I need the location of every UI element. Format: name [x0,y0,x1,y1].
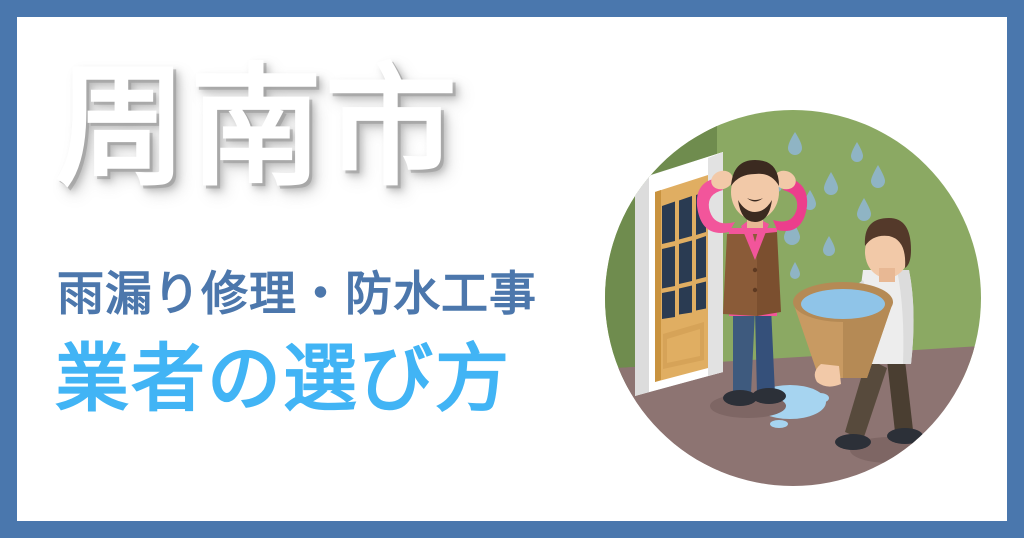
door-leaf-edge [655,190,661,382]
neck [879,268,895,282]
illustration-svg [605,110,981,486]
shoe-back [835,434,871,450]
page-title-city: 周南市 [55,62,460,194]
bucket-water [801,289,885,319]
shoe-left [723,390,757,406]
door-pane [662,291,675,320]
door-pane [662,202,675,245]
door-pane [662,246,675,289]
shoe-front [887,428,923,444]
puddle-splash [811,393,829,403]
vest-button [753,288,757,292]
door-pane [696,282,706,311]
scene-clip-group [605,110,981,486]
vest-button [753,268,757,272]
door-pane [679,241,692,285]
banner-frame: 周南市 雨漏り修理・防水工事 業者の選び方 [0,0,1024,538]
door-pane [679,196,692,240]
banner-inner-canvas: 周南市 雨漏り修理・防水工事 業者の選び方 [17,17,1007,521]
hand-grip [815,364,841,387]
door-pane [696,236,706,280]
door-casing-edge [635,176,649,396]
subtitle-service: 雨漏り修理・防水工事 [57,270,537,317]
puddle-droplet [770,420,788,428]
door-pane [679,286,692,315]
shoe-right [752,388,786,404]
subtitle-how-to-choose: 業者の選び方 [55,342,511,416]
rain-leak-illustration [605,110,981,486]
headline-text-column: 周南市 雨漏り修理・防水工事 業者の選び方 [17,17,617,521]
